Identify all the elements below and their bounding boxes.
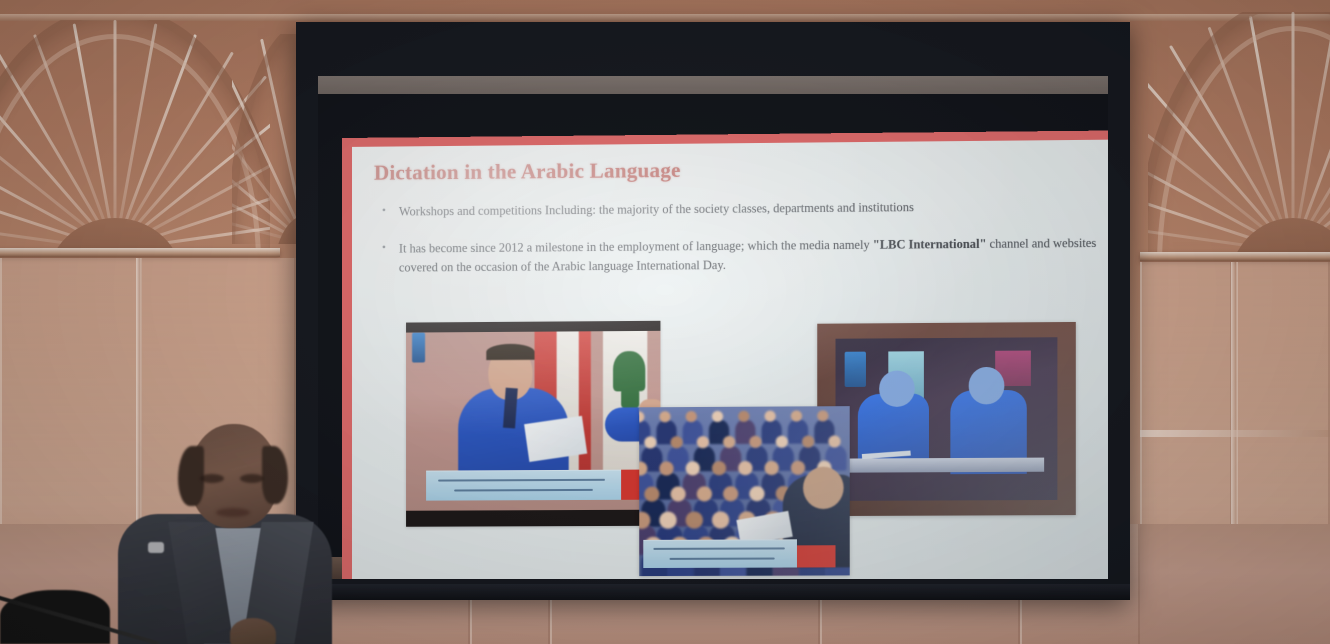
caption-red-box [797,545,836,567]
audience-figure-head [765,411,776,422]
bullet-text-2-before: It has become since 2012 a milestone in … [399,238,873,256]
bullet-marker-icon: • [382,240,386,277]
slide-footer: 2019 WEI International Academic Conferen… [352,576,1108,579]
presenter-name-badge [148,542,164,553]
man-right-head [969,367,1005,404]
arabic-lower-third-caption [426,470,621,501]
arabic-lower-third-caption [643,539,797,568]
window-sill-left [0,248,280,257]
tv-channel-logo [412,332,425,362]
photo-right-two-men-writing [817,322,1076,516]
writing-table [849,458,1045,473]
caption-text-line [438,479,605,482]
microphone-stand-base [0,590,110,644]
presenter-mouth [216,508,250,517]
foreground-man-head [803,467,844,509]
presenter-brow [240,474,264,483]
cedar-tree-emblem [621,381,639,407]
bullet-text-1: Workshops and competitions Including: th… [399,196,1108,221]
conference-room-photo: Dictation in the Arabic Language • Works… [0,0,1330,644]
caption-text-line [670,558,775,560]
presenter-hand [230,618,276,644]
audience-figure-head [712,511,729,528]
powerpoint-slide: Dictation in the Arabic Language • Works… [342,130,1108,579]
caption-text-line [454,489,593,492]
audience-figure-head [659,411,670,422]
audience-figure-head [686,411,697,422]
photo-center-audience [639,406,849,576]
photo-left-speaker-at-podium [406,321,660,527]
bullet-item-1: • Workshops and competitions Including: … [382,196,1108,221]
audience-figure-head [712,461,726,475]
slide-content-area: Dictation in the Arabic Language • Works… [352,139,1108,579]
audience-figure-head [659,461,673,475]
audience-figure-head [738,461,752,475]
projection-screen: Dictation in the Arabic Language • Works… [296,22,1130,600]
speaker-hair [486,344,534,360]
arched-fan-window-right [1148,12,1330,252]
bullet-marker-icon: • [382,203,386,221]
bullet-text-2-emphasis: "LBC International" [873,237,987,252]
audience-figure-head [686,512,703,529]
presenter-brow [200,474,224,483]
audience-figure-head [765,461,779,475]
tv-screen-surface [835,338,1057,501]
man-left-head [880,371,916,407]
caption-text-line [653,547,784,549]
audience-figure-head [738,411,749,422]
audience-figure-head [712,411,723,422]
audience-figure-head [659,512,676,529]
screen-top-grey-band [318,76,1108,94]
tv-letterbox-bar [406,321,660,333]
arched-fan-window-left [0,20,270,250]
tv-still-scene [406,321,660,527]
bullet-item-2: • It has become since 2012 a milestone i… [382,234,1108,277]
bullet-text-2: It has become since 2012 a milestone in … [399,234,1108,277]
screen-bottom-bar [296,584,1130,600]
audience-figure-head [686,461,700,475]
audience-figure-head [791,461,805,475]
presenter-speaker [112,418,334,644]
audience-figure-head [791,410,802,421]
audience-figure-head [817,410,828,421]
window-transom-bar [1140,430,1330,437]
projection-screen-surface: Dictation in the Arabic Language • Works… [318,76,1108,579]
slide-bullet-list: • Workshops and competitions Including: … [382,196,1108,296]
presenter-hair-right [262,446,288,504]
tv-channel-logo [844,352,866,388]
slide-title: Dictation in the Arabic Language [374,158,681,186]
window-sill-right [1140,252,1330,261]
tv-letterbox-bar [406,510,660,527]
